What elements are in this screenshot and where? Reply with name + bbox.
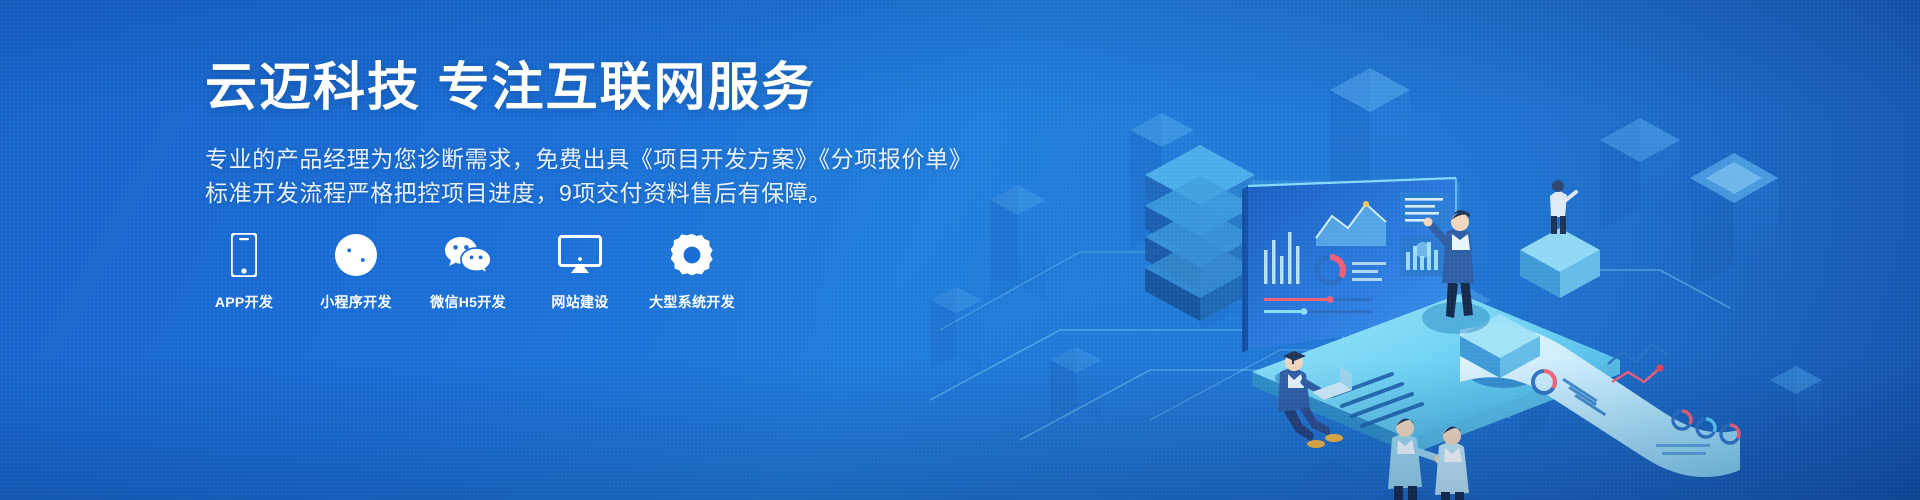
service-label: 小程序开发: [320, 292, 392, 312]
banner-subtitle: 专业的产品经理为您诊断需求，免费出具《项目开发方案》《分项报价单》 标准开发流程…: [205, 142, 925, 210]
subtitle-line-1: 专业的产品经理为您诊断需求，免费出具《项目开发方案》《分项报价单》: [205, 142, 925, 176]
service-item-app[interactable]: APP开发: [205, 232, 283, 312]
service-item-miniprogram[interactable]: 小程序开发: [317, 232, 395, 312]
wechat-icon: [444, 232, 492, 278]
service-label: 网站建设: [551, 292, 608, 312]
service-list: APP开发 小程序开发: [205, 232, 731, 312]
banner-copy: 云迈科技 专注互联网服务 专业的产品经理为您诊断需求，免费出具《项目开发方案》《…: [205, 60, 925, 210]
server-stack: [1145, 145, 1255, 321]
service-item-website[interactable]: 网站建设: [541, 232, 619, 312]
subtitle-line-2: 标准开发流程严格把控项目进度，9项交付资料售后有保障。: [205, 176, 925, 210]
mobile-phone-icon: [231, 232, 257, 278]
service-label: 微信H5开发: [430, 292, 506, 312]
monitor-icon: [558, 232, 602, 278]
hero-banner: 云迈科技 专注互联网服务 专业的产品经理为您诊断需求，免费出具《项目开发方案》《…: [0, 0, 1920, 500]
person-small-left: [1308, 463, 1352, 477]
page-title: 云迈科技 专注互联网服务: [205, 60, 925, 117]
isometric-illustration: [900, 0, 1920, 500]
person-on-cube: [1520, 180, 1600, 298]
service-item-wechat-h5[interactable]: 微信H5开发: [429, 232, 507, 312]
service-label: APP开发: [215, 292, 273, 312]
service-item-large-system[interactable]: 大型系统开发: [653, 232, 731, 312]
mini-program-icon: [335, 232, 377, 278]
gear-icon: [671, 232, 713, 278]
service-label: 大型系统开发: [649, 292, 735, 312]
